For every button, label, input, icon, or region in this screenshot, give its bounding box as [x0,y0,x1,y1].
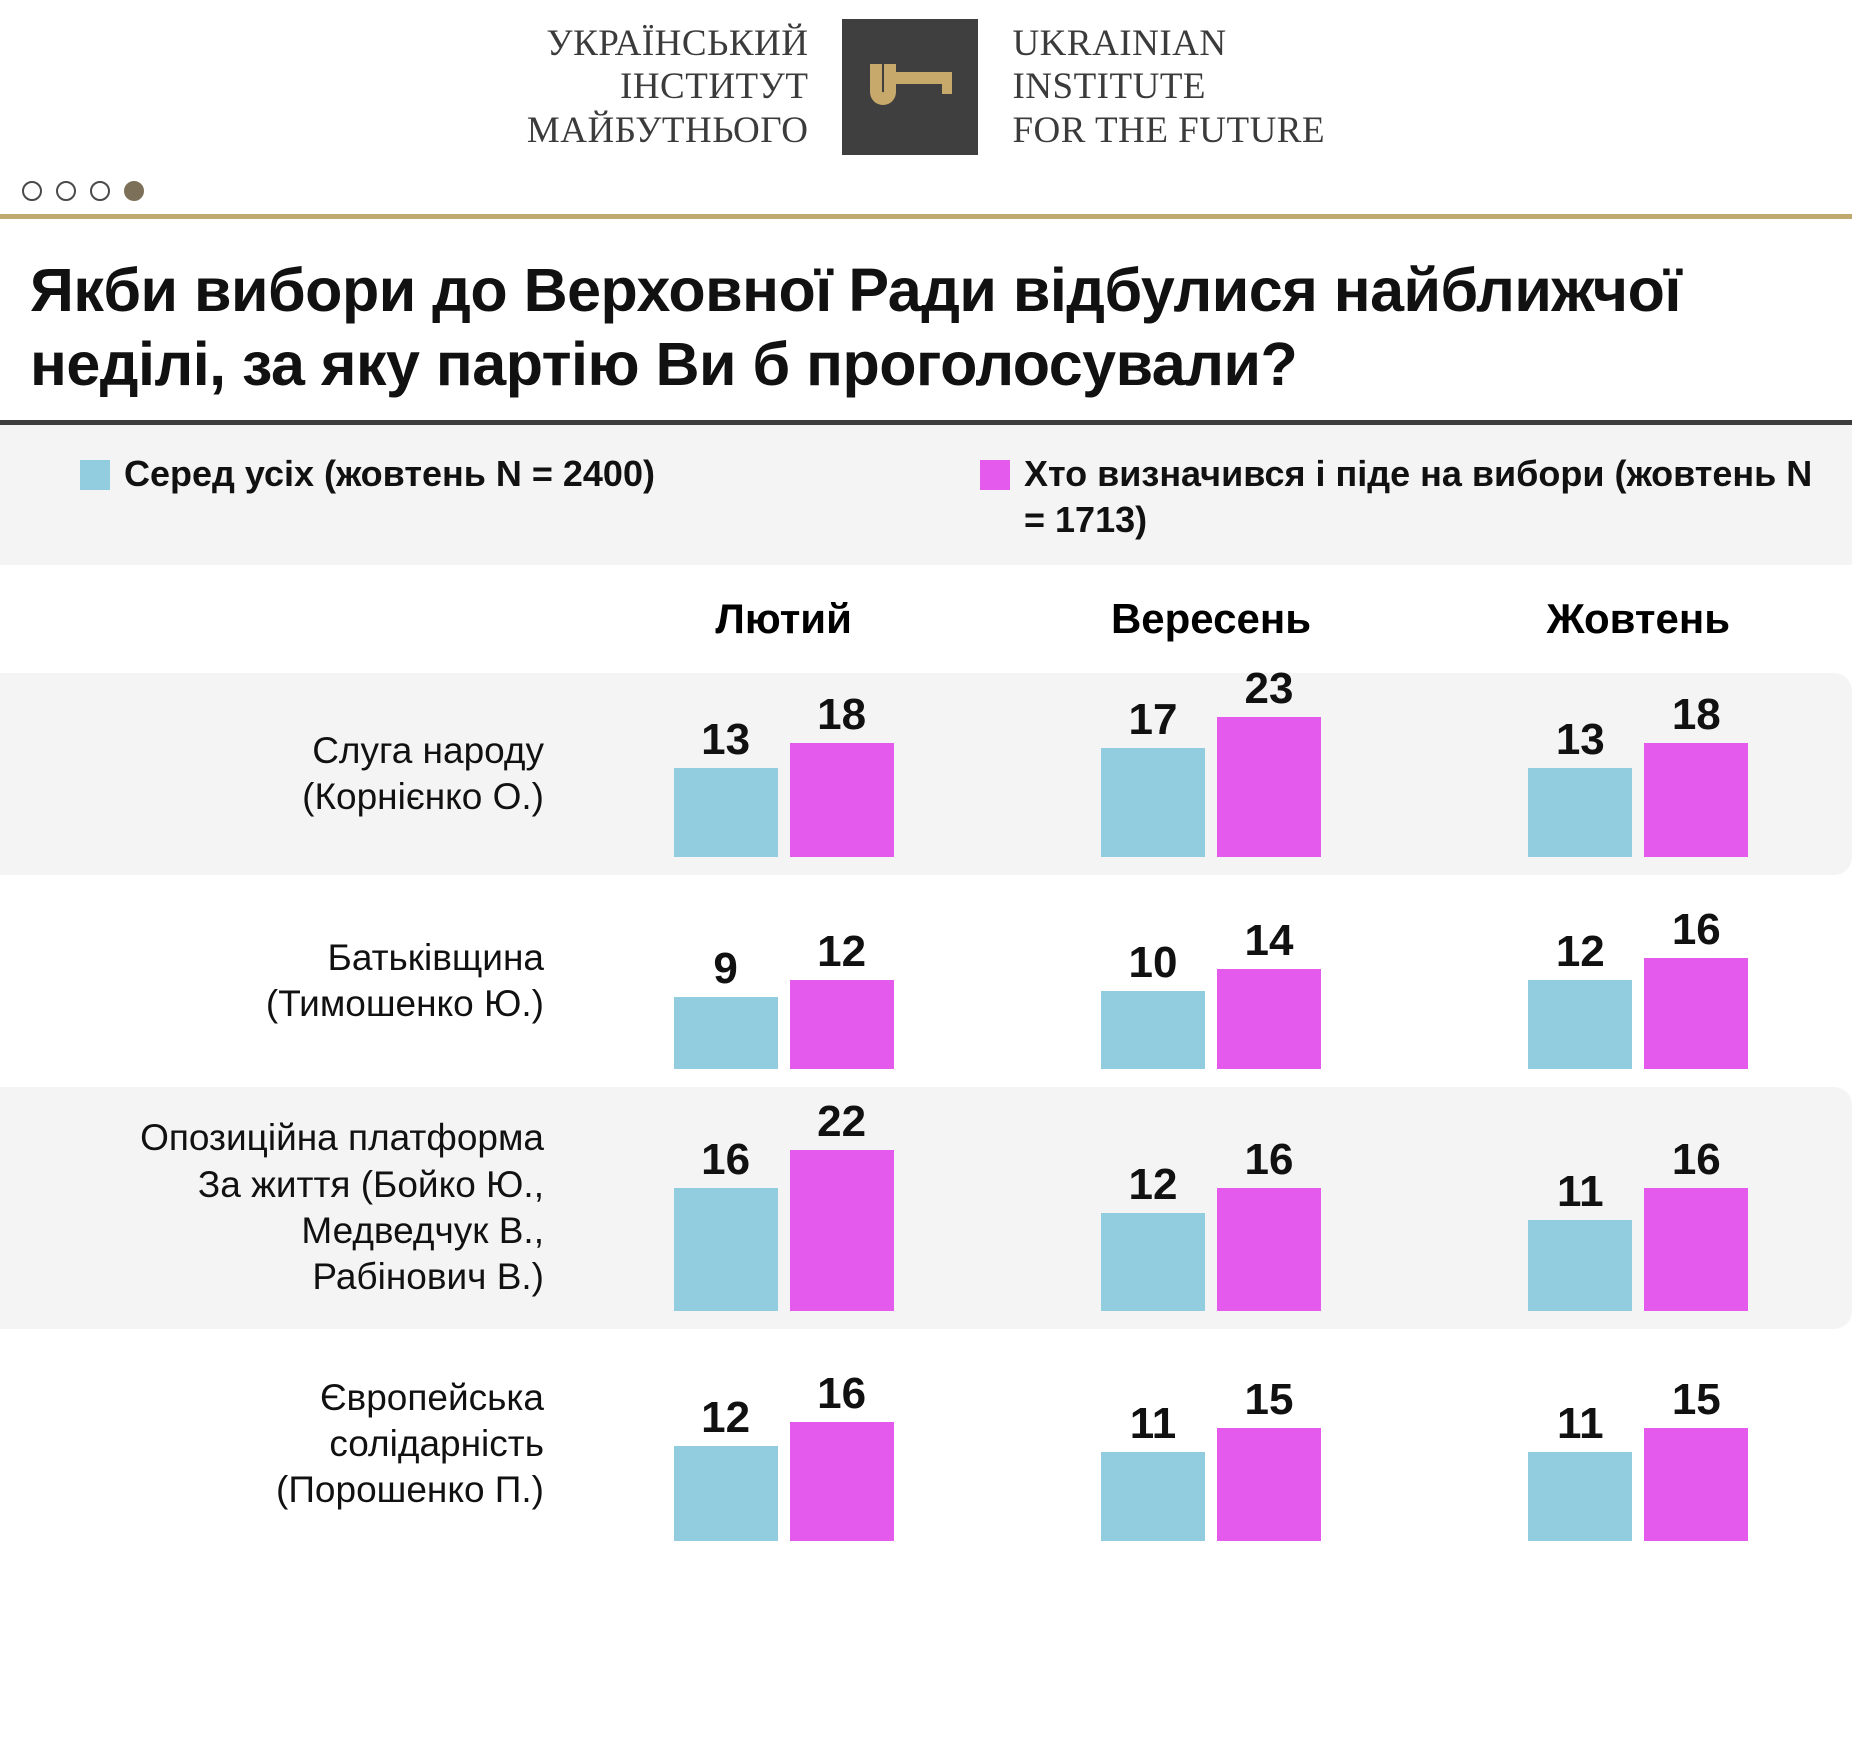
bar-group-вересень: 1115 [997,1329,1424,1559]
slide-pagination[interactable] [0,168,1852,214]
bar-decided: 16 [1217,1138,1321,1311]
legend-label-decided-voters: Хто визначився і піде на вибори (жовтень… [1024,451,1822,543]
bar-value-label: 16 [817,1372,866,1416]
bar-value-label: 12 [1129,1163,1178,1207]
bar-value-label: 16 [1245,1138,1294,1182]
bar-rect [1528,980,1632,1069]
table-row: Європейськасолідарність(Порошенко П.)121… [0,1329,1852,1559]
party-label-line: Батьківщина [266,935,544,981]
bar-group-вересень: 1216 [997,1087,1424,1329]
bar-value-label: 11 [1557,1402,1604,1446]
bar-rect [1101,1452,1205,1541]
bar-value-label: 12 [701,1396,750,1440]
logo-mark [842,19,978,155]
bar-group-лютий: 912 [570,875,997,1087]
bar-rect [790,980,894,1069]
bar-rect [674,768,778,857]
party-label: Слуга народу(Корнієнко О.) [0,673,570,875]
logo-en-line-2: Institute [1012,65,1325,109]
bar-all: 11 [1528,1170,1632,1311]
bar-group-вересень: 1014 [997,875,1424,1087]
bar-decided: 18 [790,693,894,857]
bar-decided: 23 [1217,667,1321,857]
bar-decided: 16 [790,1372,894,1541]
bar-rect [1528,768,1632,857]
bar-rect [1217,1428,1321,1541]
bar-rect [1528,1452,1632,1541]
table-row: Батьківщина(Тимошенко Ю.)91210141216 [0,875,1852,1087]
party-label: Опозиційна платформаЗа життя (Бойко Ю.,М… [0,1087,570,1329]
bar-all: 10 [1101,941,1205,1069]
logo-en-line-1: Ukrainian [1012,22,1325,66]
bar-value-label: 23 [1245,667,1294,711]
bar-value-label: 13 [1556,718,1605,762]
bar-value-label: 11 [1557,1170,1604,1214]
bar-all: 12 [1528,930,1632,1069]
bar-value-label: 16 [1672,908,1721,952]
bar-rect [1217,969,1321,1069]
column-header-february: Лютий [570,595,997,643]
bar-value-label: 15 [1672,1378,1721,1422]
party-label-line: солідарність [276,1421,544,1467]
bar-all: 17 [1101,698,1205,857]
legend-swatch-pink [980,460,1010,490]
table-row: Опозиційна платформаЗа життя (Бойко Ю.,М… [0,1087,1852,1329]
bar-decided: 14 [1217,919,1321,1069]
bar-rect [1528,1220,1632,1311]
chart-rows: Слуга народу(Корнієнко О.)131817231318Ба… [0,673,1852,1559]
bar-group-лютий: 1622 [570,1087,997,1329]
bar-rect [674,1188,778,1311]
pagination-dot-1[interactable] [22,181,42,201]
legend-item-decided-voters[interactable]: Хто визначився і піде на вибори (жовтень… [980,451,1822,543]
chart-legend: Серед усіх (жовтень N = 2400) Хто визнач… [0,425,1852,565]
party-label-line: Європейська [276,1375,544,1421]
logo-en-line-3: for the Future [1012,109,1325,153]
bar-group-жовтень: 1116 [1425,1087,1852,1329]
logo: Український Інститут Майбутнього Ukraini… [527,19,1325,155]
bar-all: 16 [674,1138,778,1311]
bar-rect [1217,717,1321,857]
bar-decided: 16 [1644,1138,1748,1311]
logo-text-en: Ukrainian Institute for the Future [978,22,1325,153]
page-title: Якби вибори до Верховної Ради відбулися … [0,219,1852,420]
bar-value-label: 12 [817,930,866,974]
party-label-line: (Порошенко П.) [276,1467,544,1513]
bar-rect [1644,958,1748,1069]
logo-ua-line-3: Майбутнього [527,109,809,153]
party-label: Батьківщина(Тимошенко Ю.) [0,875,570,1087]
party-label-line: (Корнієнко О.) [302,774,544,820]
bar-value-label: 18 [817,693,866,737]
bar-decided: 16 [1644,908,1748,1069]
column-header-september: Вересень [997,595,1424,643]
brand-header: Український Інститут Майбутнього Ukraini… [0,0,1852,168]
bar-all: 13 [674,718,778,857]
bar-decided: 12 [790,930,894,1069]
bar-all: 11 [1101,1402,1205,1541]
bar-decided: 15 [1217,1378,1321,1541]
bar-group-жовтень: 1216 [1425,875,1852,1087]
bar-value-label: 17 [1129,698,1178,742]
bar-rect [1644,743,1748,857]
logo-ua-line-2: Інститут [527,65,809,109]
bar-rect [790,1422,894,1541]
bar-value-label: 22 [817,1100,866,1144]
party-label: Європейськасолідарність(Порошенко П.) [0,1329,570,1559]
bar-rect [1101,748,1205,857]
party-label-line: Рабінович В.) [140,1254,544,1300]
legend-swatch-blue [80,460,110,490]
bar-rect [1101,1213,1205,1311]
bar-value-label: 9 [713,947,737,991]
bar-value-label: 15 [1245,1378,1294,1422]
bar-rect [790,743,894,857]
pagination-dot-4-active[interactable] [124,181,144,201]
bar-all: 12 [674,1396,778,1541]
logo-ua-line-1: Український [527,22,809,66]
key-icon [864,62,956,112]
bar-decided: 18 [1644,693,1748,857]
bar-all: 12 [1101,1163,1205,1311]
bar-value-label: 12 [1556,930,1605,974]
party-label-line: Слуга народу [302,728,544,774]
bar-decided: 15 [1644,1378,1748,1541]
pagination-dot-2[interactable] [56,181,76,201]
bar-group-жовтень: 1115 [1425,1329,1852,1559]
bar-value-label: 11 [1130,1402,1177,1446]
bar-all: 11 [1528,1402,1632,1541]
bar-rect [674,997,778,1069]
bar-rect [1644,1188,1748,1311]
bar-rect [1101,991,1205,1069]
bar-value-label: 16 [701,1138,750,1182]
column-header-october: Жовтень [1425,595,1852,643]
bar-rect [674,1446,778,1541]
bar-all: 9 [674,947,778,1069]
bar-value-label: 18 [1672,693,1721,737]
party-label-line: За життя (Бойко Ю., [140,1162,544,1208]
bar-group-вересень: 1723 [997,673,1424,875]
bar-rect [1644,1428,1748,1541]
pagination-dot-3[interactable] [90,181,110,201]
bar-group-жовтень: 1318 [1425,673,1852,875]
bar-value-label: 13 [701,718,750,762]
bar-rect [790,1150,894,1311]
bar-decided: 22 [790,1100,894,1311]
column-header-row: Лютий Вересень Жовтень [0,565,1852,673]
bar-all: 13 [1528,718,1632,857]
bar-rect [1217,1188,1321,1311]
bar-value-label: 16 [1672,1138,1721,1182]
party-label-line: Опозиційна платформа [140,1115,544,1161]
legend-item-all-respondents[interactable]: Серед усіх (жовтень N = 2400) [80,451,980,497]
bar-value-label: 14 [1245,919,1294,963]
table-row: Слуга народу(Корнієнко О.)131817231318 [0,673,1852,875]
bar-group-лютий: 1318 [570,673,997,875]
bar-group-лютий: 1216 [570,1329,997,1559]
bar-value-label: 10 [1129,941,1178,985]
party-label-line: Медведчук В., [140,1208,544,1254]
legend-label-all-respondents: Серед усіх (жовтень N = 2400) [124,451,655,497]
logo-text-ua: Український Інститут Майбутнього [527,22,843,153]
party-label-line: (Тимошенко Ю.) [266,981,544,1027]
